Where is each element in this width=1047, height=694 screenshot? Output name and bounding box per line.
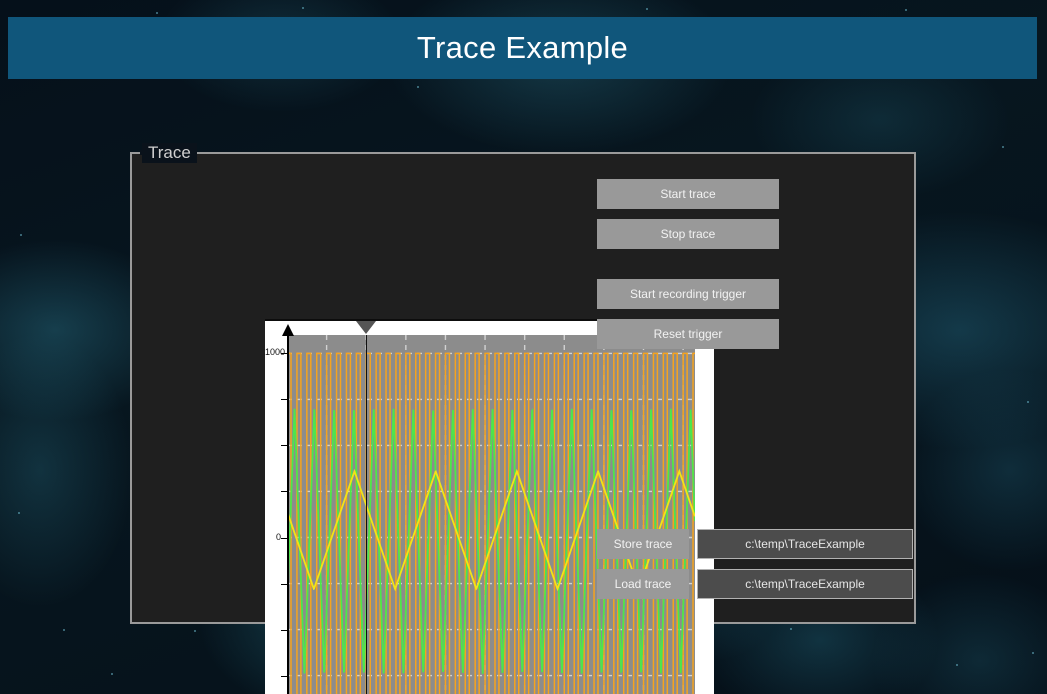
y-axis-tick xyxy=(281,538,288,539)
load-trace-path-field[interactable]: c:\temp\TraceExample xyxy=(697,569,913,599)
star-dot xyxy=(194,630,196,632)
y-axis-tick xyxy=(281,676,288,677)
group-box-label: Trace xyxy=(142,143,197,163)
trace-plot-panel[interactable]: 10000-1000 38s40s42s44s46s xyxy=(265,319,714,694)
star-dot xyxy=(1002,146,1004,148)
stop-trace-button[interactable]: Stop trace xyxy=(597,219,779,249)
waveform-svg xyxy=(287,335,695,694)
application-window: Trace Example 10000-1000 38s40s42s44s46s… xyxy=(0,0,1047,694)
star-dot xyxy=(18,512,20,514)
star-dot xyxy=(956,664,958,666)
y-axis-label: 0 xyxy=(265,532,281,542)
y-axis-label: 1000 xyxy=(265,347,281,357)
star-dot xyxy=(111,673,113,675)
y-axis-tick xyxy=(281,399,288,400)
store-trace-path-field[interactable]: c:\temp\TraceExample xyxy=(697,529,913,559)
cursor-line[interactable] xyxy=(366,335,367,694)
y-axis-tick xyxy=(281,445,288,446)
y-axis-tick xyxy=(281,630,288,631)
start-recording-trigger-button[interactable]: Start recording trigger xyxy=(597,279,779,309)
y-axis-tick xyxy=(281,584,288,585)
cursor-handle-icon[interactable] xyxy=(356,321,376,334)
reset-trigger-button[interactable]: Reset trigger xyxy=(597,319,779,349)
start-trace-button[interactable]: Start trace xyxy=(597,179,779,209)
star-dot xyxy=(63,629,65,631)
star-dot xyxy=(790,628,792,630)
plot-inner: 10000-1000 38s40s42s44s46s xyxy=(265,321,714,694)
page-title: Trace Example xyxy=(417,30,628,66)
y-axis-tick xyxy=(281,491,288,492)
series-square xyxy=(287,353,695,694)
star-dot xyxy=(20,234,22,236)
store-trace-button[interactable]: Store trace xyxy=(597,529,689,559)
y-axis-line xyxy=(287,335,289,694)
plot-data-area[interactable] xyxy=(287,335,695,694)
y-axis-arrow xyxy=(282,324,294,336)
star-dot xyxy=(417,86,419,88)
load-trace-button[interactable]: Load trace xyxy=(597,569,689,599)
star-dot xyxy=(156,12,158,14)
star-dot xyxy=(905,9,907,11)
star-dot xyxy=(646,8,648,10)
star-dot xyxy=(302,7,304,9)
star-dot xyxy=(1032,652,1034,654)
title-bar: Trace Example xyxy=(8,17,1037,79)
trace-group-box: 10000-1000 38s40s42s44s46s Start trace S… xyxy=(130,152,916,624)
star-dot xyxy=(1027,401,1029,403)
